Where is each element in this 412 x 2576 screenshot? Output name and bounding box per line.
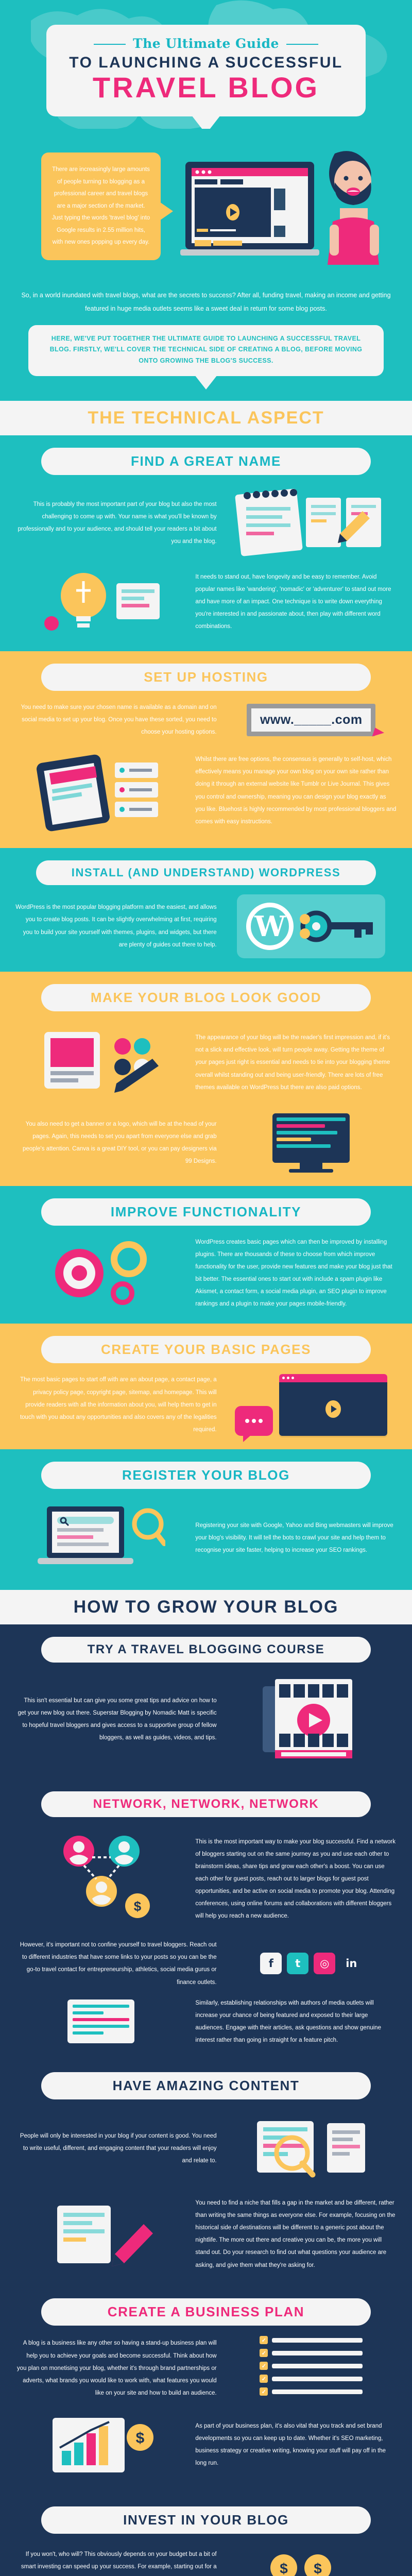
section-business-plan: CREATE A BUSINESS PLAN A blog is a busin…	[0, 2286, 412, 2494]
section-title-set-up-hosting: SET UP HOSTING	[41, 664, 371, 691]
title-line-2: TO LAUNCHING A SUCCESSFUL	[57, 54, 355, 72]
notebook-illustration	[234, 484, 388, 562]
functionality-paragraph-1: WordPress creates basic pages which can …	[195, 1236, 397, 1311]
banner-grow-label: HOW TO GROW YOUR BLOG	[0, 1597, 412, 1617]
browser-window-illustration	[279, 1374, 387, 1436]
tablet-server-illustration	[37, 747, 165, 835]
lightbulb-illustration	[34, 566, 168, 638]
section-create-basic-pages: CREATE YOUR BASIC PAGES The most basic p…	[0, 1324, 412, 1449]
banner-grow-your-blog: HOW TO GROW YOUR BLOG	[0, 1590, 412, 1624]
check-icon: ✓	[260, 2336, 268, 2344]
section-register-your-blog: REGISTER YOUR BLOG Registering your	[0, 1449, 412, 1590]
film-video-illustration	[254, 1673, 368, 1766]
section-title-make-blog-look-good: MAKE YOUR BLOG LOOK GOOD	[41, 984, 371, 1011]
title-line-1: The Ultimate Guide	[126, 36, 286, 51]
section-invest-in-your-blog: INVEST IN YOUR BLOG If you won't, who wi…	[0, 2494, 412, 2576]
check-icon: ✓	[260, 2349, 268, 2357]
palette-phone-illustration	[39, 1022, 163, 1104]
section-install-wordpress: INSTALL (AND UNDERSTAND) WORDPRESS WordP…	[0, 848, 412, 972]
section-title-find-a-great-name: FIND A GREAT NAME	[41, 448, 371, 475]
facebook-icon[interactable]: f	[260, 1953, 282, 1974]
section-find-a-great-name: FIND A GREAT NAME This is probably the m…	[0, 435, 412, 651]
intro-speech-bubble: There are increasingly large amounts of …	[41, 152, 161, 260]
pencil-document-illustration	[47, 2195, 155, 2273]
hosting-paragraph-1: You need to make sure your chosen name i…	[15, 701, 217, 738]
find-name-paragraph-1: This is probably the most important part…	[15, 498, 217, 548]
intro-callout: HERE, WE'VE PUT TOGETHER THE ULTIMATE GU…	[28, 325, 384, 377]
network-paragraph-1: This is the most important way to make y…	[195, 1836, 397, 1923]
business-plan-paragraph-2: As part of your business plan, it's also…	[195, 2420, 397, 2470]
wordpress-paragraph-1: WordPress is the most popular blogging p…	[15, 901, 217, 951]
banner-technical-aspect: THE TECHNICAL ASPECT	[0, 401, 412, 435]
banner-technical-label: THE TECHNICAL ASPECT	[0, 408, 412, 428]
domain-value: www._____.com	[251, 708, 371, 732]
title-card: The Ultimate Guide TO LAUNCHING A SUCCES…	[46, 25, 366, 116]
check-icon: ✓	[260, 2375, 268, 2383]
look-good-paragraph-1: The appearance of your blog will be the …	[195, 1031, 397, 1094]
growth-chart-illustration: $	[44, 2409, 158, 2481]
svg-text:$: $	[133, 1899, 141, 1914]
section-improve-functionality: IMPROVE FUNCTIONALITY WordPress creates …	[0, 1186, 412, 1324]
play-icon	[325, 1400, 341, 1418]
section-network: NETWORK, NETWORK, NETWORK	[0, 1779, 412, 2060]
content-paragraph-1: People will only be interested in your b…	[15, 2130, 217, 2167]
section-title-amazing-content: HAVE AMAZING CONTENT	[41, 2072, 371, 2099]
key-illustration	[299, 906, 376, 947]
section-set-up-hosting: SET UP HOSTING You need to make sure you…	[0, 651, 412, 848]
checklist-item: ✓	[260, 2336, 363, 2344]
svg-text:$: $	[135, 2430, 144, 2447]
title-line-3: TRAVEL BLOG	[57, 73, 355, 103]
section-title-install-wordpress: INSTALL (AND UNDERSTAND) WORDPRESS	[36, 860, 376, 885]
social-icon-grid: f t ◎ in	[260, 1953, 363, 1974]
linkedin-icon[interactable]: in	[340, 1953, 362, 1974]
intro-paragraph: So, in a world inundated with travel blo…	[0, 285, 412, 325]
content-paragraph-2: You need to find a niche that fills a ga…	[195, 2197, 397, 2272]
intro-section: There are increasingly large amounts of …	[0, 129, 412, 401]
basic-pages-paragraph-1: The most basic pages to start off with a…	[15, 1374, 217, 1436]
checklist-item: ✓	[260, 2362, 363, 2370]
article-card-illustration	[67, 1999, 134, 2043]
network-paragraph-2: However, it's important not to confine y…	[15, 1939, 217, 1989]
hosting-paragraph-2: Whilst there are free options, the conse…	[195, 753, 397, 828]
checklist-illustration: ✓ ✓ ✓ ✓ ✓	[260, 2336, 363, 2400]
section-title-business-plan: CREATE A BUSINESS PLAN	[41, 2298, 371, 2326]
cursor-icon	[372, 727, 385, 739]
invest-paragraph-1: If you won't, who will? This obviously d…	[15, 2548, 217, 2576]
laptop-search-illustration	[37, 1499, 165, 1577]
section-title-register-your-blog: REGISTER YOUR BLOG	[41, 1462, 371, 1489]
register-paragraph-1: Registering your site with Google, Yahoo…	[195, 1519, 397, 1556]
look-good-paragraph-2: You also need to get a banner or a logo,…	[15, 1118, 217, 1168]
check-icon: ✓	[260, 2362, 268, 2370]
svg-text:$: $	[314, 2561, 322, 2576]
chat-bubble-icon	[235, 1406, 273, 1436]
section-title-travel-blogging-course: TRY A TRAVEL BLOGGING COURSE	[41, 1637, 371, 1663]
instagram-icon[interactable]: ◎	[314, 1953, 335, 1974]
checklist-item: ✓	[260, 2349, 363, 2357]
section-title-improve-functionality: IMPROVE FUNCTIONALITY	[41, 1198, 371, 1226]
infographic-page: The Ultimate Guide TO LAUNCHING A SUCCES…	[0, 0, 412, 2576]
intro-top-row: There are increasingly large amounts of …	[0, 146, 412, 285]
course-paragraph-1: This isn't essential but can give you so…	[15, 1694, 217, 1744]
header-banner: The Ultimate Guide TO LAUNCHING A SUCCES…	[0, 0, 412, 129]
wordpress-logo-icon: W	[246, 903, 294, 950]
monitor-illustration	[272, 1113, 350, 1173]
gear-icon	[111, 1241, 147, 1277]
section-amazing-content: HAVE AMAZING CONTENT People will only be…	[0, 2060, 412, 2286]
find-name-paragraph-2: It needs to stand out, have longevity an…	[195, 571, 397, 633]
checklist-item: ✓	[260, 2387, 363, 2396]
network-people-illustration: $	[47, 1827, 155, 1930]
section-title-network: NETWORK, NETWORK, NETWORK	[41, 1791, 371, 1817]
svg-text:$: $	[280, 2561, 288, 2576]
business-plan-paragraph-1: A blog is a business like any other so h…	[15, 2337, 217, 2399]
laptop-illustration	[180, 146, 402, 283]
section-make-blog-look-good: MAKE YOUR BLOG LOOK GOOD The appearance …	[0, 972, 412, 1186]
money-coins-illustration: $ $ $	[257, 2544, 365, 2576]
network-paragraph-3: Similarly, establishing relationships wi…	[195, 1997, 397, 2047]
section-title-invest-in-your-blog: INVEST IN YOUR BLOG	[41, 2506, 371, 2534]
checklist-item: ✓	[260, 2375, 363, 2383]
check-icon: ✓	[260, 2387, 268, 2396]
section-title-create-basic-pages: CREATE YOUR BASIC PAGES	[41, 1336, 371, 1363]
magnifier-book-illustration	[252, 2110, 370, 2187]
gear-small-icon	[111, 1281, 134, 1305]
target-icon	[55, 1249, 104, 1297]
section-travel-blogging-course: TRY A TRAVEL BLOGGING COURSE This isn't …	[0, 1624, 412, 1779]
domain-name-box: www._____.com	[247, 704, 375, 736]
twitter-icon[interactable]: t	[287, 1953, 308, 1974]
